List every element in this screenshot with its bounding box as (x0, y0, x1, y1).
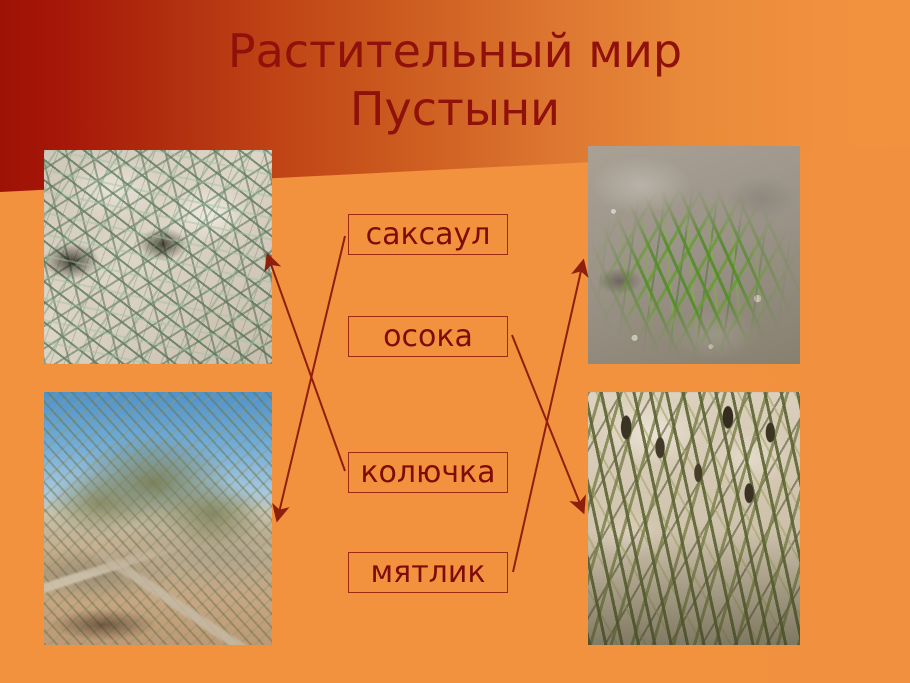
photo-bottom-left-saksaul (44, 392, 272, 645)
label-osoka[interactable]: осока (348, 316, 508, 357)
photo-top-right-myatlik (588, 146, 800, 364)
photo-top-right-grass-layer (588, 146, 800, 364)
photo-bottom-right-osoka (588, 392, 800, 645)
label-myatlik[interactable]: мятлик (348, 552, 508, 593)
photo-top-left-twigs-highlight-layer (44, 150, 272, 364)
page-title: Растительный мир Пустыни (0, 22, 910, 138)
photo-bottom-right-shade-layer (588, 392, 800, 645)
label-kolyuchka[interactable]: колючка (348, 452, 508, 493)
label-saksaul[interactable]: саксаул (348, 214, 508, 255)
slide-canvas: Растительный мир Пустыни (0, 0, 910, 683)
photo-bottom-left-shadow-layer (44, 392, 272, 645)
photo-top-left-kolyuchka (44, 150, 272, 364)
